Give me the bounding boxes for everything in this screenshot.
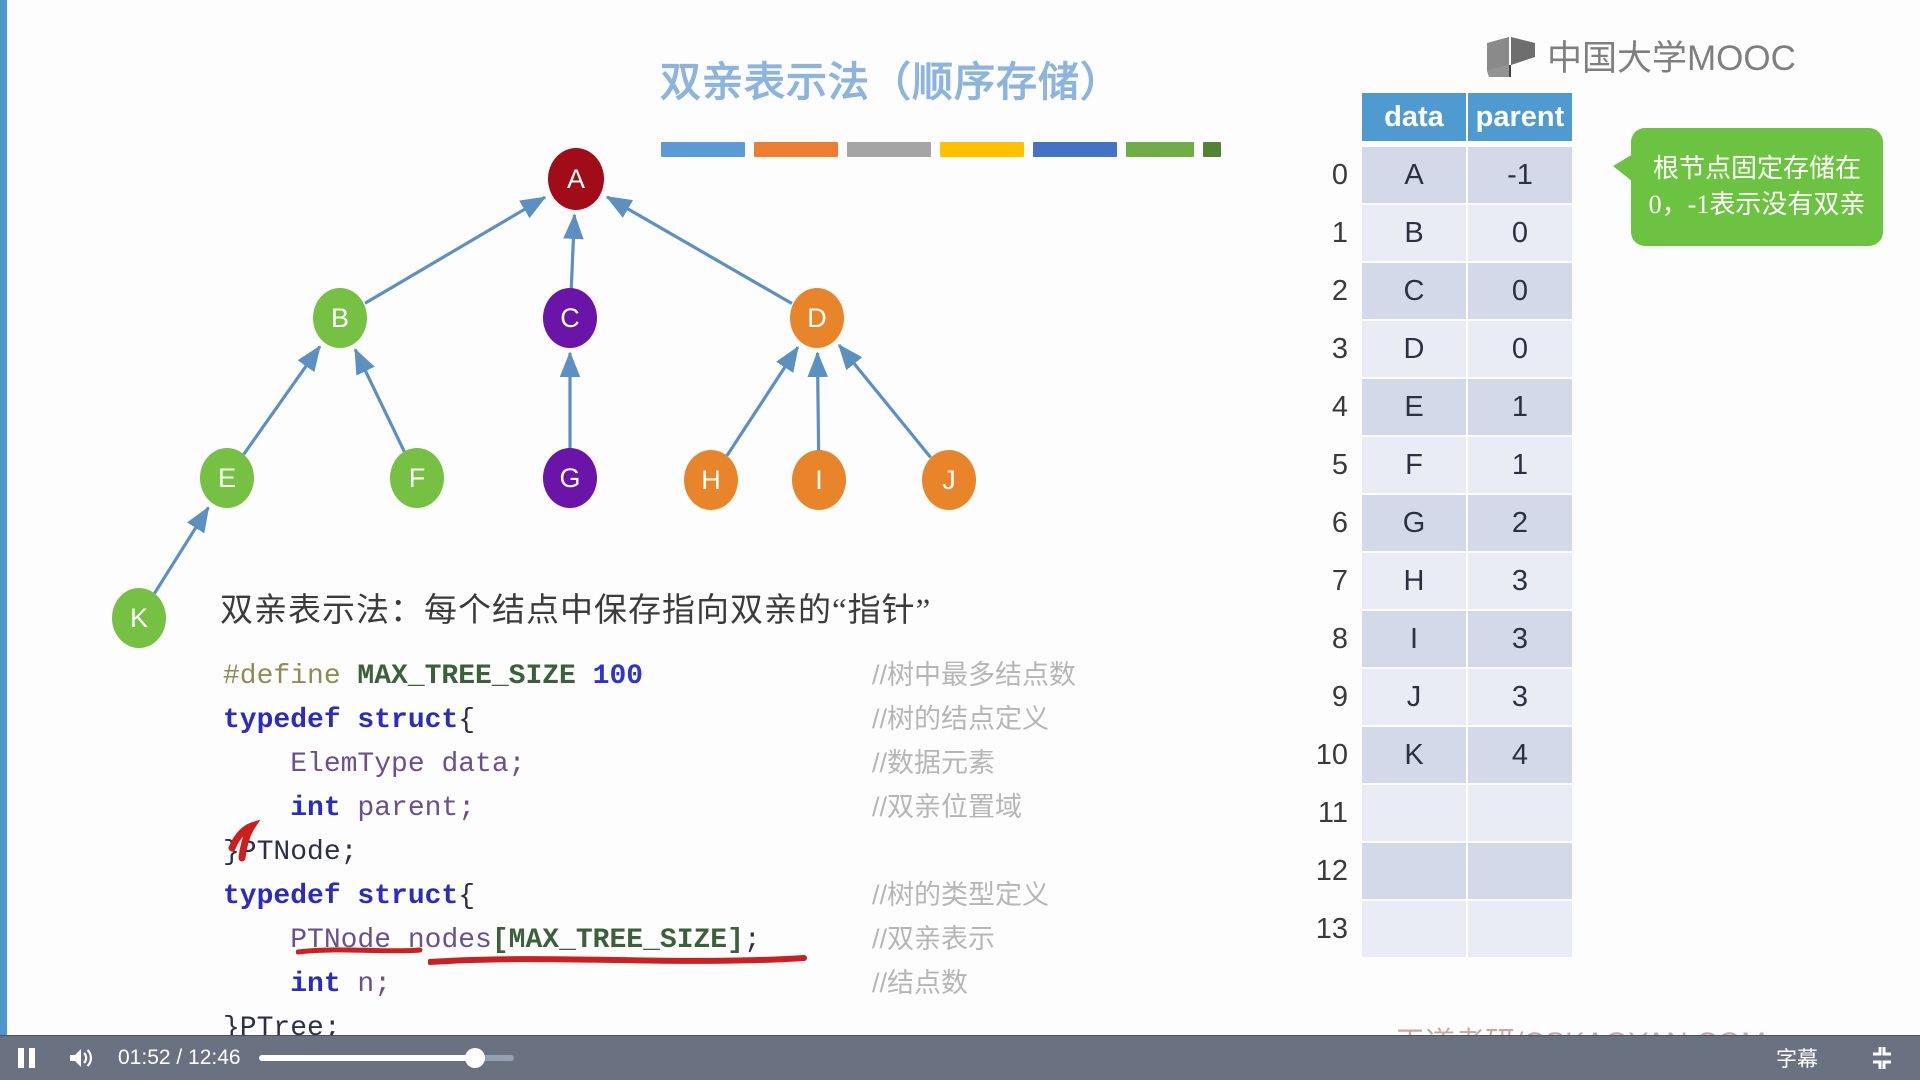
- code-token: }PTNode;: [223, 837, 357, 868]
- code-line-5: }PTNode;: [223, 831, 761, 875]
- table-row: 1B0: [1300, 204, 1574, 262]
- tree-edge-k-to-e: [154, 508, 208, 594]
- table-cell-parent: 1: [1468, 437, 1572, 493]
- table-cell-parent: [1468, 843, 1572, 899]
- code-comment-5: [872, 829, 1076, 873]
- code-token: [MAX_TREE_SIZE]: [492, 925, 744, 956]
- table-row: 4E1: [1300, 378, 1574, 436]
- tree-node-d: D: [790, 288, 844, 348]
- code-comment-8: //结点数: [872, 961, 1076, 1005]
- code-token: PTNode: [223, 925, 408, 956]
- table-row: 10K4: [1300, 726, 1574, 784]
- tree-node-c: C: [543, 288, 597, 348]
- table-row-index: 8: [1300, 623, 1362, 656]
- table-cell-data: I: [1362, 611, 1466, 667]
- code-token: int: [223, 793, 357, 824]
- table-cell-parent: 3: [1468, 611, 1572, 667]
- table-cell-parent: 3: [1468, 553, 1572, 609]
- table-cell-parent: 4: [1468, 727, 1572, 783]
- table-cell-parent: 0: [1468, 263, 1572, 319]
- table-cell-data: F: [1362, 437, 1466, 493]
- table-row: 12: [1300, 842, 1574, 900]
- table-cell-parent: [1468, 785, 1572, 841]
- volume-slider[interactable]: [259, 1055, 514, 1061]
- table-row-index: 2: [1300, 275, 1362, 308]
- tree-node-a: A: [548, 148, 604, 210]
- code-token: typedef struct: [223, 705, 458, 736]
- table-row: 6G2: [1300, 494, 1574, 552]
- code-comment-4: //双亲位置域: [872, 785, 1076, 829]
- table-cell-parent: [1468, 901, 1572, 957]
- table-row: 3D0: [1300, 320, 1574, 378]
- table-cell-parent: 3: [1468, 669, 1572, 725]
- pause-button[interactable]: [0, 1036, 54, 1080]
- code-token: 100: [593, 661, 643, 692]
- code-block: #define MAX_TREE_SIZE 100typedef struct{…: [223, 655, 761, 1051]
- callout-note: 根节点固定存储在0，-1表示没有双亲: [1631, 128, 1883, 246]
- table-row-index: 12: [1300, 855, 1362, 888]
- tree-node-h: H: [684, 450, 738, 510]
- table-cell-data: B: [1362, 205, 1466, 261]
- subtitles-button[interactable]: 字幕: [1776, 1043, 1818, 1073]
- table-cell-parent: 2: [1468, 495, 1572, 551]
- tree-edge-e-to-b: [244, 347, 320, 455]
- table-row: 9J3: [1300, 668, 1574, 726]
- exit-fullscreen-icon: [1869, 1045, 1895, 1071]
- table-cell-parent: 0: [1468, 205, 1572, 261]
- code-token: typedef struct: [223, 881, 458, 912]
- table-row: 13: [1300, 900, 1574, 958]
- table-cell-data: C: [1362, 263, 1466, 319]
- code-token: int: [223, 969, 357, 1000]
- table-row-index: 4: [1300, 391, 1362, 424]
- book-icon: [1485, 35, 1537, 77]
- pause-icon: [17, 1047, 37, 1069]
- table-cell-data: [1362, 843, 1466, 899]
- code-token: #define: [223, 661, 357, 692]
- table-row-index: 9: [1300, 681, 1362, 714]
- tree-node-k: K: [112, 588, 166, 648]
- table-cell-data: K: [1362, 727, 1466, 783]
- tree-edge-i-to-d: [817, 353, 818, 451]
- table-row-index: 10: [1300, 739, 1362, 772]
- tree-node-b: B: [313, 288, 367, 348]
- table-row: 0A-1: [1300, 146, 1574, 204]
- volume-button[interactable]: [54, 1036, 108, 1080]
- volume-slider-knob[interactable]: [465, 1048, 485, 1068]
- tree-node-f: F: [390, 448, 444, 508]
- table-row: 5F1: [1300, 436, 1574, 494]
- table-cell-data: E: [1362, 379, 1466, 435]
- title-bar-7: [1203, 142, 1221, 157]
- tree-edge-j-to-d: [839, 345, 931, 457]
- description-text: 双亲表示法：每个结点中保存指向双亲的“指针”: [220, 583, 931, 631]
- table-cell-parent: -1: [1468, 147, 1572, 203]
- table-cell-data: J: [1362, 669, 1466, 725]
- table-cell-parent: 0: [1468, 321, 1572, 377]
- code-comment-6: //树的类型定义: [872, 873, 1076, 917]
- table-row-index: 3: [1300, 333, 1362, 366]
- fullscreen-button[interactable]: [1854, 1036, 1910, 1080]
- tree-edge-b-to-a: [365, 197, 545, 303]
- code-line-3: ElemType data;: [223, 743, 761, 787]
- code-comment-3: //数据元素: [872, 741, 1076, 785]
- code-token: MAX_TREE_SIZE: [357, 661, 592, 692]
- tree-node-j: J: [922, 450, 976, 510]
- table-row-index: 0: [1300, 159, 1362, 192]
- code-token: data;: [441, 749, 525, 780]
- title-bar-6: [1126, 142, 1194, 157]
- page-title: 双亲表示法（顺序存储）: [660, 48, 1260, 108]
- code-line-8: int n;: [223, 963, 761, 1007]
- code-comment-1: //树中最多结点数: [872, 653, 1076, 697]
- table-cell-data: G: [1362, 495, 1466, 551]
- code-line-6: typedef struct{: [223, 875, 761, 919]
- code-line-2: typedef struct{: [223, 699, 761, 743]
- table-row-index: 11: [1300, 797, 1362, 830]
- table-row-index: 13: [1300, 913, 1362, 946]
- code-token: ;: [744, 925, 761, 956]
- table-cell-data: H: [1362, 553, 1466, 609]
- table-header-row: data parent: [1300, 88, 1574, 146]
- table-cell-data: D: [1362, 321, 1466, 377]
- code-token: n;: [357, 969, 391, 1000]
- code-token: {: [458, 705, 475, 736]
- tree-node-g: G: [543, 448, 597, 508]
- code-line-7: PTNode nodes[MAX_TREE_SIZE];: [223, 919, 761, 963]
- code-token: {: [458, 881, 475, 912]
- table-row-index: 6: [1300, 507, 1362, 540]
- table-row: 8I3: [1300, 610, 1574, 668]
- tree-edge-d-to-a: [607, 197, 792, 304]
- code-token: ElemType: [223, 749, 441, 780]
- table-row-index: 7: [1300, 565, 1362, 598]
- tree-node-i: I: [792, 450, 846, 510]
- code-line-1: #define MAX_TREE_SIZE 100: [223, 655, 761, 699]
- column-header-data: data: [1362, 93, 1466, 141]
- tree-edge-h-to-d: [727, 347, 798, 455]
- volume-slider-fill: [259, 1055, 474, 1061]
- table-cell-data: [1362, 785, 1466, 841]
- table-row: 11: [1300, 784, 1574, 842]
- slide-stage: 双亲表示法（顺序存储） 中国大学MOOC ABCDEFGHIJK 双亲表示法：每…: [0, 0, 1920, 1080]
- table-row-index: 1: [1300, 217, 1362, 250]
- table-cell-data: A: [1362, 147, 1466, 203]
- volume-icon: [68, 1047, 94, 1069]
- code-line-4: int parent;: [223, 787, 761, 831]
- column-header-parent: parent: [1468, 93, 1572, 141]
- mooc-logo: 中国大学MOOC: [1485, 30, 1796, 81]
- table-row-index: 5: [1300, 449, 1362, 482]
- tree-diagram: ABCDEFGHIJK: [0, 120, 1060, 640]
- table-cell-data: [1362, 901, 1466, 957]
- video-player-controls: 01:52 / 12:46 字幕: [0, 1036, 1920, 1080]
- logo-text: 中国大学MOOC: [1547, 30, 1796, 81]
- code-comment-2: //树的结点定义: [872, 697, 1076, 741]
- tree-edge-c-to-a: [571, 215, 574, 289]
- code-comments: //树中最多结点数//树的结点定义//数据元素//双亲位置域//树的类型定义//…: [872, 653, 1076, 1049]
- tree-edge-f-to-b: [355, 350, 404, 452]
- tree-node-e: E: [200, 448, 254, 508]
- code-token: nodes: [408, 925, 492, 956]
- table-cell-parent: 1: [1468, 379, 1572, 435]
- table-row: 7H3: [1300, 552, 1574, 610]
- table-row: 2C0: [1300, 262, 1574, 320]
- code-comment-7: //双亲表示: [872, 917, 1076, 961]
- code-token: parent;: [357, 793, 475, 824]
- parent-representation-table: data parent 0A-11B02C03D04E15F16G27H38I3…: [1300, 88, 1574, 958]
- time-display: 01:52 / 12:46: [118, 1046, 241, 1070]
